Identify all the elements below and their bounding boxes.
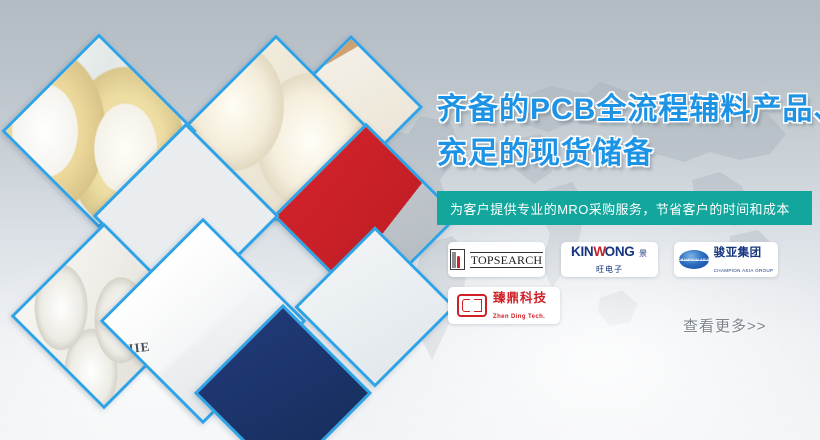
topsearch-lockup: TOPSEARCH — [450, 249, 544, 270]
zhen-ding-mark-icon — [457, 294, 487, 317]
champion-asia-title-en: CHAMPION ASIA GROUP — [714, 268, 774, 273]
partner-logo-champion-asia[interactable]: CHAMPION ASIA 骏亚集团 CHAMPION ASIA GROUP — [674, 242, 778, 277]
banner-subtitle-text: 为客户提供专业的MRO采购服务，节省客户的时间和成本 — [437, 199, 790, 218]
champion-asia-text: 骏亚集团 CHAMPION ASIA GROUP — [714, 244, 774, 276]
zhen-ding-title-en: Zhen Ding Tech. — [493, 314, 545, 320]
kinwong-wordmark-right: ONG — [605, 244, 635, 259]
topsearch-wordmark: TOPSEARCH — [470, 252, 544, 268]
partner-logo-row-1: TOPSEARCH KINWONG 景旺电子 CHAMPION ASIA 骏亚集… — [448, 242, 810, 277]
kinwong-lockup: KINWONG 景旺电子 — [570, 244, 649, 276]
banner-headline: 齐备的PCB全流程辅料产品、 充足的现货储备 — [437, 88, 817, 176]
champion-asia-lockup: CHAMPION ASIA 骏亚集团 CHAMPION ASIA GROUP — [679, 244, 774, 276]
zhen-ding-title-cn: 臻鼎科技 — [493, 291, 547, 305]
product-collage: JIE — [0, 0, 430, 440]
banner-subtitle-bar: 为客户提供专业的MRO采购服务，节省客户的时间和成本 — [437, 191, 812, 225]
zhen-ding-lockup: 臻鼎科技 Zhen Ding Tech. — [457, 290, 551, 322]
kinwong-wordmark-mid: W — [593, 244, 604, 259]
view-more-link[interactable]: 查看更多>> — [683, 315, 767, 336]
kinwong-wordmark-left: KIN — [571, 244, 593, 259]
champion-asia-title-cn: 骏亚集团 — [714, 247, 762, 259]
partner-logo-zhen-ding[interactable]: 臻鼎科技 Zhen Ding Tech. — [448, 287, 560, 324]
globe-icon: CHAMPION ASIA — [679, 250, 709, 269]
kinwong-wordmark: KINWONG — [571, 244, 634, 259]
globe-icon-text: CHAMPION ASIA — [679, 258, 709, 262]
topsearch-mark-icon — [450, 249, 465, 270]
headline-line-2: 充足的现货储备 — [437, 132, 817, 176]
headline-line-1: 齐备的PCB全流程辅料产品、 — [437, 88, 817, 132]
partner-logo-kinwong[interactable]: KINWONG 景旺电子 — [561, 242, 658, 277]
zhen-ding-text: 臻鼎科技 Zhen Ding Tech. — [493, 290, 551, 322]
hero-banner: JIE 齐备的PCB全流程辅料产品、 充足的现货储备 为客户提供专业的MRO采购… — [0, 0, 820, 440]
partner-logo-topsearch[interactable]: TOPSEARCH — [448, 242, 545, 277]
